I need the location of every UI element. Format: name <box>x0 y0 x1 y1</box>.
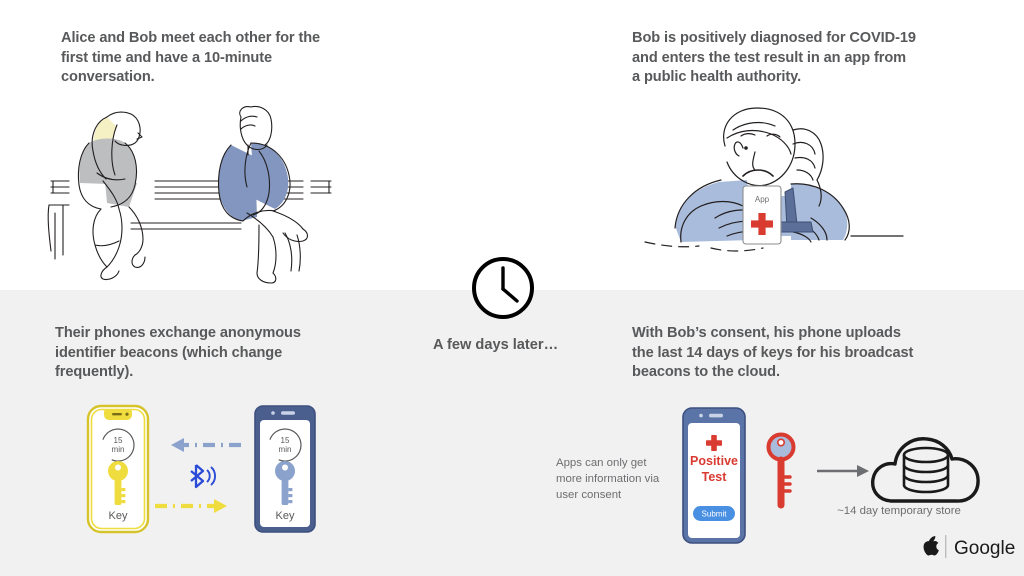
middle-label-a-few-days-later: A few days later… <box>433 337 583 353</box>
timer-value-left: 15 <box>114 436 123 445</box>
illustration-two-people-on-bench <box>45 95 335 275</box>
caption-temporary-store: ~14 day temporary store <box>814 503 984 519</box>
vertical-divider <box>945 535 946 558</box>
panel-heading-top-right: Bob is positively diagnosed for COVID-19… <box>632 29 952 88</box>
positive-test-line2: Test <box>702 470 728 484</box>
submit-button-label: Submit <box>702 510 728 519</box>
phone-left-alice: 15 min Key <box>88 406 148 532</box>
google-wordmark: Google <box>954 538 1015 559</box>
panel-heading-top-left: Alice and Bob meet each other for the fi… <box>61 29 361 88</box>
clock-icon <box>470 255 536 321</box>
phone-positive-test: Positive Test Submit <box>683 408 745 543</box>
panel-heading-bottom-left: Their phones exchange anonymous identifi… <box>55 324 345 383</box>
key-label-left: Key <box>109 510 128 522</box>
illustration-sad-man-with-phone: App <box>615 100 915 260</box>
infographic-canvas: Alice and Bob meet each other for the fi… <box>0 0 1024 576</box>
panel-heading-bottom-right: With Bob’s consent, his phone uploads th… <box>632 324 962 383</box>
timer-unit-right: min <box>279 445 292 454</box>
submit-button[interactable]: Submit <box>693 506 735 521</box>
key-label-right: Key <box>276 510 295 522</box>
apple-logo-icon <box>924 536 939 555</box>
timer-unit-left: min <box>112 445 125 454</box>
key-icon-red <box>769 435 794 506</box>
footer-apple-google-logos: Google <box>918 533 1014 561</box>
bluetooth-signal-icon <box>191 465 215 487</box>
cloud-database-icon <box>873 439 978 501</box>
phone-right-bob: 15 min Key <box>255 406 315 532</box>
dash-dot-arrow-left <box>171 438 241 452</box>
illustration-phones-exchanging-keys: 15 min Key <box>85 403 320 538</box>
arrow-right-to-cloud <box>817 465 869 477</box>
dash-dot-arrow-right <box>155 499 227 513</box>
positive-test-line1: Positive <box>690 454 738 468</box>
phone-app-label: App <box>755 195 770 204</box>
timer-value-right: 15 <box>281 436 290 445</box>
illustration-upload-to-cloud: Positive Test Submit <box>545 405 965 550</box>
